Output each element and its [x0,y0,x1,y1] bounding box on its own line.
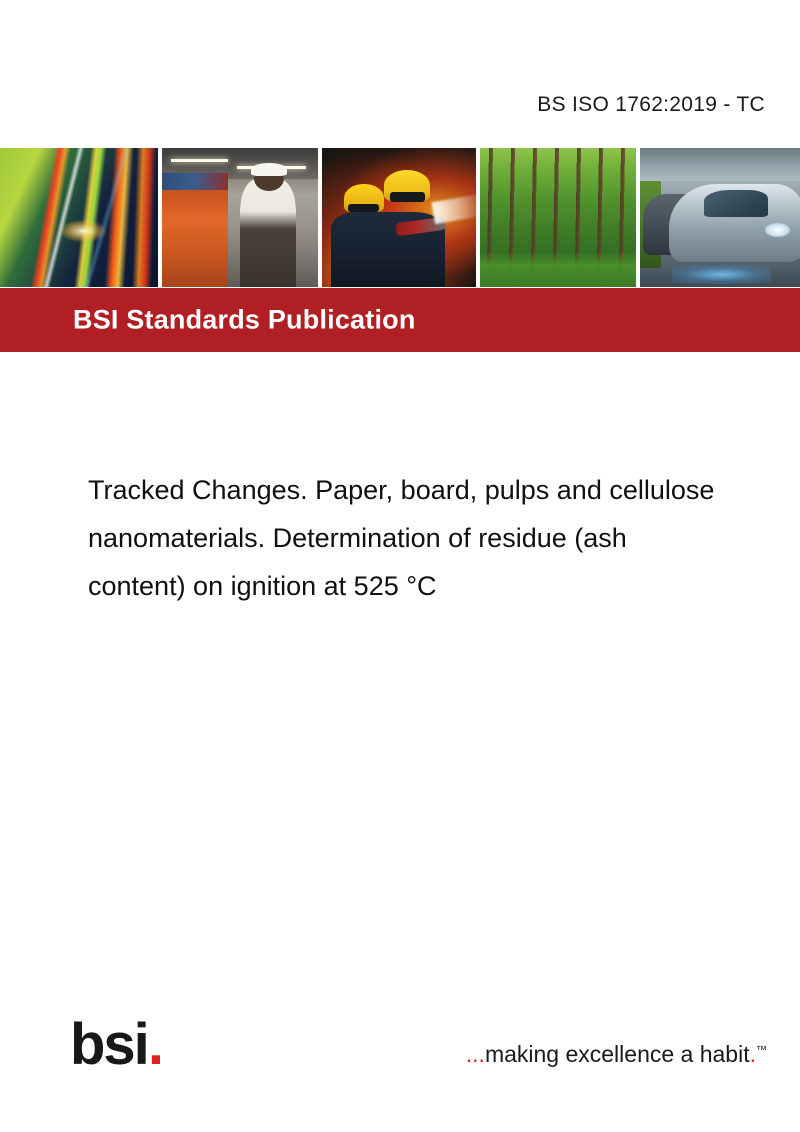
cover-photo-strip [0,148,800,287]
car-windshield [704,190,768,218]
photo-panel-night-traffic-light-trails [0,148,158,287]
document-reference: BS ISO 1762:2019 - TC [537,93,765,117]
trademark-icon: ™ [756,1044,767,1056]
tagline-ellipsis: ... [466,1041,485,1067]
photo-panel-pine-forest [480,148,636,287]
banner-label: BSI Standards Publication [73,305,416,336]
page-title: Tracked Changes. Paper, board, pulps and… [88,466,800,610]
worker-cap [251,163,287,176]
photo-panel-car-assembly-line [640,148,800,287]
ceiling-light [171,159,227,162]
tagline-text: making excellence a habit [485,1041,750,1067]
factory-ceiling [640,148,800,181]
bsi-logo-dot: . [148,1012,162,1077]
photo-panel-firefighters [322,148,476,287]
bsi-logo: bsi. [70,1016,162,1074]
water-spray [431,194,476,224]
photo-panel-warehouse-worker [162,148,318,287]
warehouse-crates [162,190,228,287]
firefighter-visor [348,204,379,212]
worker-torso [240,179,296,287]
standards-publication-banner: BSI Standards Publication [0,288,800,352]
firefighter-visor [390,192,425,202]
car-headlight [765,223,791,237]
title-line: content) on ignition at 525 °C [88,562,800,610]
title-line: nanomaterials. Determination of residue … [88,514,800,562]
title-line: Tracked Changes. Paper, board, pulps and… [88,466,800,514]
bsi-tagline: ...making excellence a habit.™ [466,1041,767,1068]
bsi-logo-text: bsi [70,1012,148,1077]
floor-reflection [672,265,771,284]
